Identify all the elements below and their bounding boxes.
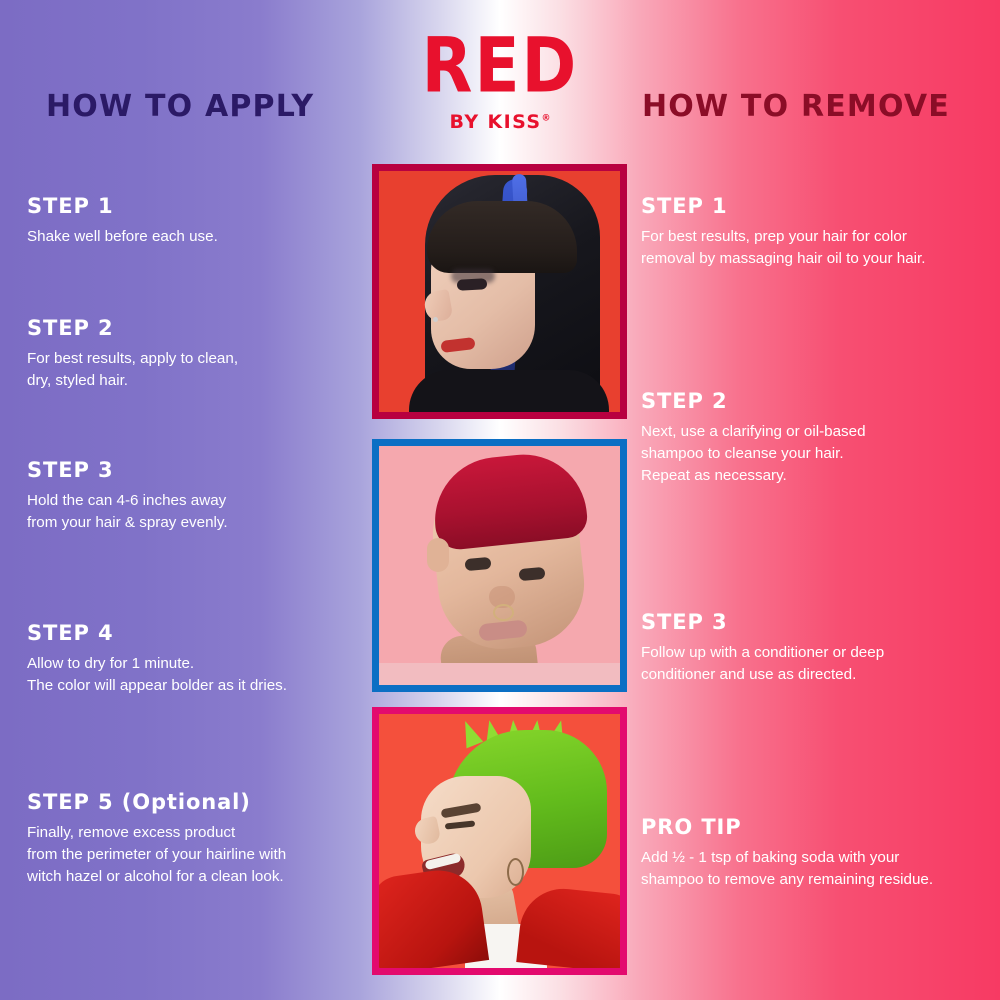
photo-green-hair-model [372, 707, 627, 975]
remove-step-1-body: For best results, prep your hair for col… [641, 226, 989, 270]
brand-tagline-text: BY KISS [450, 111, 542, 133]
photo-red-buzzcut-model [372, 439, 627, 692]
remove-pro-tip: PRO TIP Add ½ - 1 tsp of baking soda wit… [641, 817, 989, 891]
photo-2-shirt [379, 663, 620, 685]
remove-step-3-title: STEP 3 [641, 612, 989, 633]
photo-3-content [379, 714, 620, 968]
photo-1-eye [457, 278, 488, 291]
brand-tagline: BY KISS® [450, 113, 551, 132]
how-to-apply-heading: HOW TO APPLY [46, 92, 314, 122]
apply-step-2-body: For best results, apply to clean, dry, s… [27, 348, 357, 392]
apply-step-1-body: Shake well before each use. [27, 226, 357, 248]
apply-step-5-body: Finally, remove excess product from the … [27, 822, 357, 888]
apply-step-2-title: STEP 2 [27, 318, 357, 339]
apply-step-4-title: STEP 4 [27, 623, 357, 644]
remove-pro-tip-title: PRO TIP [641, 817, 989, 838]
apply-step-3: STEP 3 Hold the can 4-6 inches away from… [27, 460, 357, 534]
apply-step-4-body: Allow to dry for 1 minute. The color wil… [27, 653, 357, 697]
photo-2-content [379, 446, 620, 685]
apply-step-1-title: STEP 1 [27, 196, 357, 217]
how-to-remove-heading: HOW TO REMOVE [642, 92, 950, 122]
apply-step-4: STEP 4 Allow to dry for 1 minute. The co… [27, 623, 357, 697]
photo-1-content [379, 171, 620, 412]
registered-mark-icon: ® [541, 114, 550, 124]
apply-step-2: STEP 2 For best results, apply to clean,… [27, 318, 357, 392]
remove-step-1-title: STEP 1 [641, 196, 989, 217]
photo-2-ear [427, 538, 449, 572]
photo-2-septum-ring [493, 604, 514, 621]
photo-3-earring [507, 858, 524, 886]
apply-step-5: STEP 5 (Optional) Finally, remove excess… [27, 792, 357, 888]
photo-blue-streak-model [372, 164, 627, 419]
remove-step-2: STEP 2 Next, use a clarifying or oil-bas… [641, 391, 989, 487]
poster-canvas: RED BY KISS® HOW TO APPLY HOW TO REMOVE … [0, 0, 1000, 1000]
apply-step-1: STEP 1 Shake well before each use. [27, 196, 357, 248]
photo-1-bangs [427, 201, 577, 273]
remove-step-2-body: Next, use a clarifying or oil-based sham… [641, 421, 989, 487]
remove-step-1: STEP 1 For best results, prep your hair … [641, 196, 989, 270]
apply-step-3-body: Hold the can 4-6 inches away from your h… [27, 490, 357, 534]
photo-1-shoulders [409, 370, 609, 412]
apply-step-3-title: STEP 3 [27, 460, 357, 481]
remove-step-3: STEP 3 Follow up with a conditioner or d… [641, 612, 989, 686]
photo-1-nose-stud [433, 317, 438, 322]
apply-step-5-title: STEP 5 (Optional) [27, 792, 357, 813]
remove-step-3-body: Follow up with a conditioner or deep con… [641, 642, 989, 686]
remove-pro-tip-body: Add ½ - 1 tsp of baking soda with your s… [641, 847, 989, 891]
remove-step-2-title: STEP 2 [641, 391, 989, 412]
